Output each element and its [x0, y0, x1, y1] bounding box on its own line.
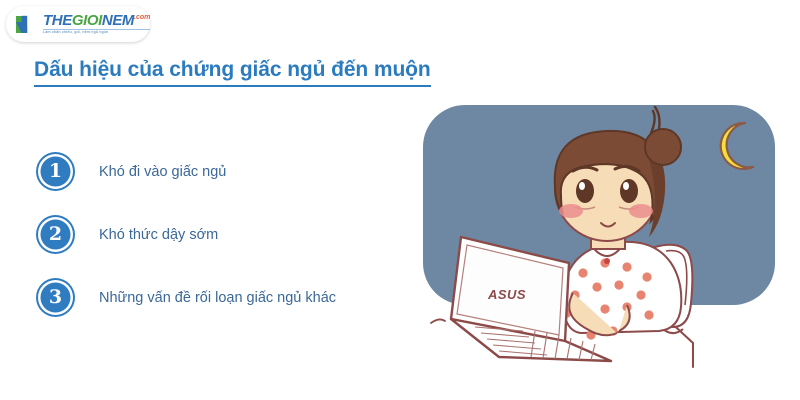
- laptop-brand-label: ASUS: [487, 287, 526, 302]
- logo-word-nem: NEM: [102, 12, 134, 29]
- site-logo[interactable]: THEGIOINEM.com Làm chăn chiếu, gối, nệm …: [6, 6, 150, 42]
- illustration: ASUS: [415, 95, 790, 395]
- list-item: 1 Khó đi vào giấc ngủ: [38, 140, 408, 203]
- logo-word-com: .com: [134, 14, 150, 21]
- letter-n-logo-icon: [13, 11, 39, 37]
- logo-word-gioi: GIOI: [72, 12, 102, 29]
- illustration-svg: ASUS: [415, 95, 790, 395]
- blush-left: [559, 204, 583, 218]
- logo-tagline: Làm chăn chiếu, gối, nệm ngủ ngon: [43, 31, 150, 35]
- logo-word-the: THE: [43, 12, 72, 29]
- blush-right: [629, 204, 653, 218]
- list-item-label: Những vấn đề rối loạn giấc ngủ khác: [99, 290, 336, 306]
- symptom-list: 1 Khó đi vào giấc ngủ 2 Khó thức dậy sớm…: [38, 140, 408, 329]
- number-badge: 1: [38, 154, 73, 189]
- number-badge: 2: [38, 217, 73, 252]
- number-badge: 3: [38, 280, 73, 315]
- logo-text: THEGIOINEM.com Làm chăn chiếu, gối, nệm …: [43, 13, 150, 35]
- list-item-label: Khó thức dậy sớm: [99, 227, 218, 243]
- list-item: 3 Những vấn đề rối loạn giấc ngủ khác: [38, 266, 408, 329]
- page-title: Dấu hiệu của chứng giấc ngủ đến muộn: [34, 58, 431, 87]
- list-item-label: Khó đi vào giấc ngủ: [99, 164, 226, 180]
- logo-wordmark: THEGIOINEM.com: [43, 13, 150, 28]
- list-item: 2 Khó thức dậy sớm: [38, 203, 408, 266]
